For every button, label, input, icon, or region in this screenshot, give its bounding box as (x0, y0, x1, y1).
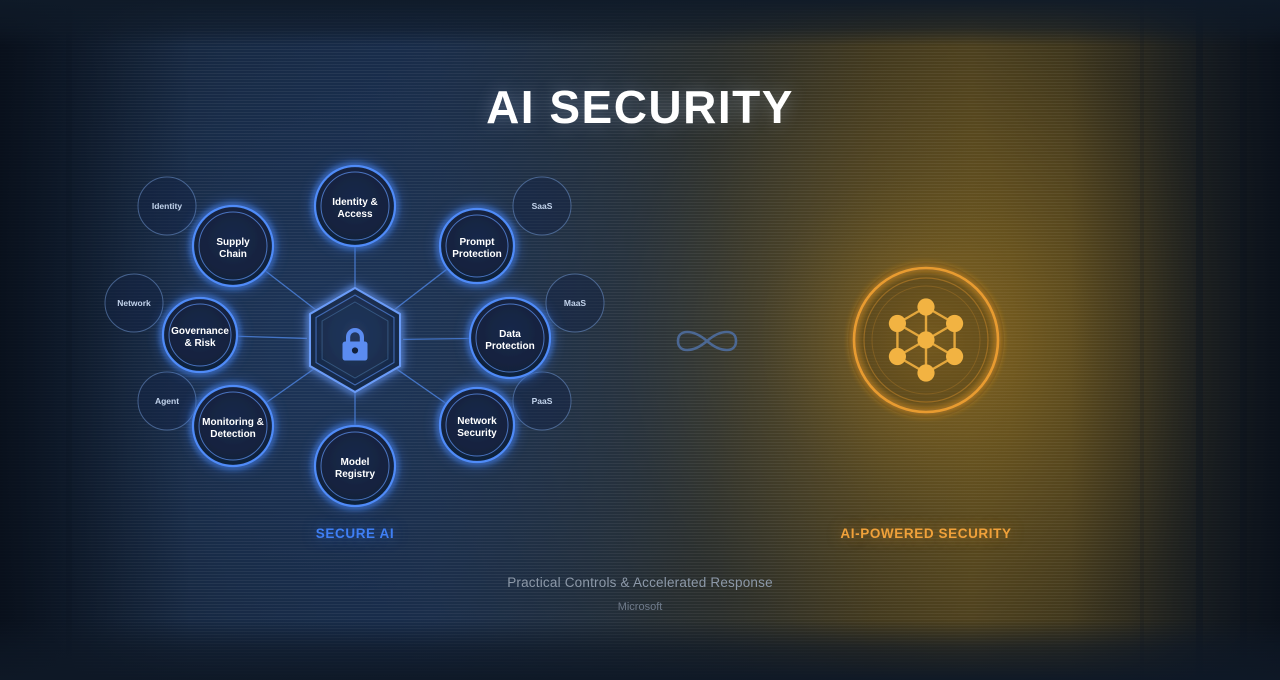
svg-text:Chain: Chain (219, 249, 247, 260)
svg-text:MaaS: MaaS (564, 298, 587, 308)
svg-text:Prompt: Prompt (460, 237, 496, 248)
svg-text:Agent: Agent (155, 396, 179, 406)
svg-text:Network: Network (117, 298, 151, 308)
svg-text:Access: Access (337, 209, 372, 220)
svg-text:& Risk: & Risk (184, 338, 216, 349)
network-graph-icon (848, 262, 1004, 418)
slide-canvas: AI SECURITY (0, 0, 1280, 680)
svg-text:Governance: Governance (171, 326, 229, 337)
secure-ai-caption: SECURE AI (316, 526, 394, 541)
svg-text:Supply: Supply (216, 237, 250, 248)
brand-label: Microsoft (0, 601, 1280, 613)
ai-powered-security-caption: AI-POWERED SECURITY (840, 526, 1011, 541)
infinity-icon (678, 332, 736, 350)
svg-text:SaaS: SaaS (532, 201, 553, 211)
svg-text:Identity &: Identity & (332, 197, 378, 208)
svg-text:PaaS: PaaS (532, 396, 553, 406)
svg-text:Identity: Identity (152, 201, 182, 211)
svg-text:Protection: Protection (485, 341, 534, 352)
svg-text:Network: Network (457, 416, 497, 427)
svg-text:Protection: Protection (452, 249, 501, 260)
hub-hexagon (310, 288, 400, 392)
svg-text:Registry: Registry (335, 469, 375, 480)
svg-text:Detection: Detection (210, 429, 256, 440)
svg-text:Monitoring &: Monitoring & (202, 417, 264, 428)
svg-text:Data: Data (499, 329, 521, 340)
tagline: Practical Controls & Accelerated Respons… (0, 575, 1280, 590)
svg-text:Security: Security (457, 428, 497, 439)
svg-text:Model: Model (341, 457, 370, 468)
